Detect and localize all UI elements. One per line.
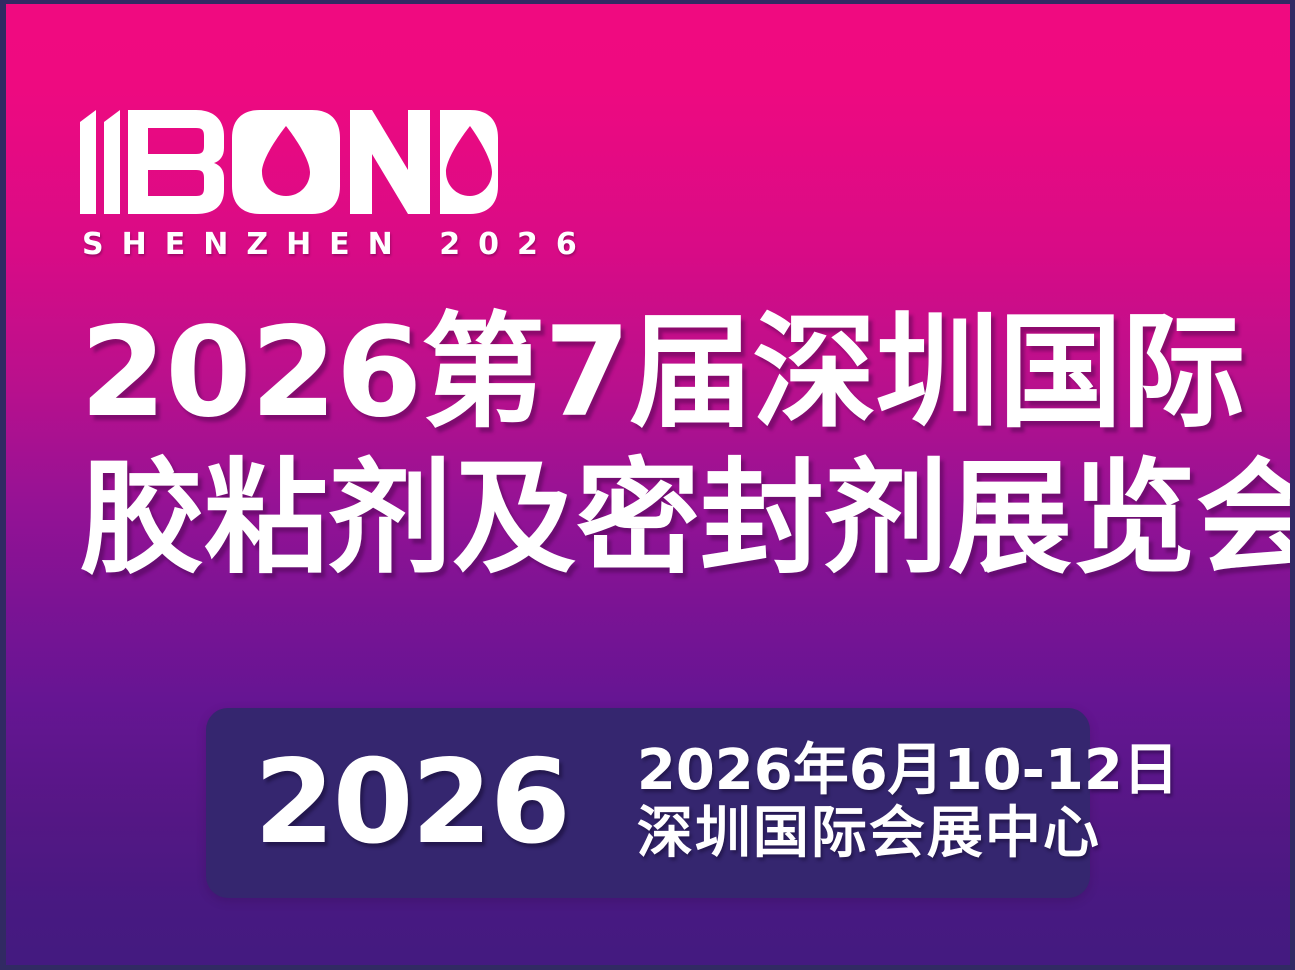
event-venue: 深圳国际会展中心 [637,803,1179,866]
brand-logo: SHENZHEN 2026 [78,108,595,260]
headline-line-1: 2026第7届深圳国际 [80,300,1295,446]
poster-headline: 2026第7届深圳国际 胶粘剂及密封剂展览会 [80,300,1295,593]
bond-wordmark-icon [78,108,498,218]
exhibition-poster: SHENZHEN 2026 2026第7届深圳国际 胶粘剂及密封剂展览会 202… [0,0,1295,970]
event-info-box: 2026 2026年6月10-12日 深圳国际会展中心 [206,708,1090,898]
headline-line-2: 胶粘剂及密封剂展览会 [80,446,1295,592]
event-dates: 2026年6月10-12日 [637,740,1179,803]
event-details: 2026年6月10-12日 深圳国际会展中心 [637,740,1179,865]
logo-subtitle: SHENZHEN 2026 [82,230,595,260]
event-year: 2026 [254,745,569,861]
